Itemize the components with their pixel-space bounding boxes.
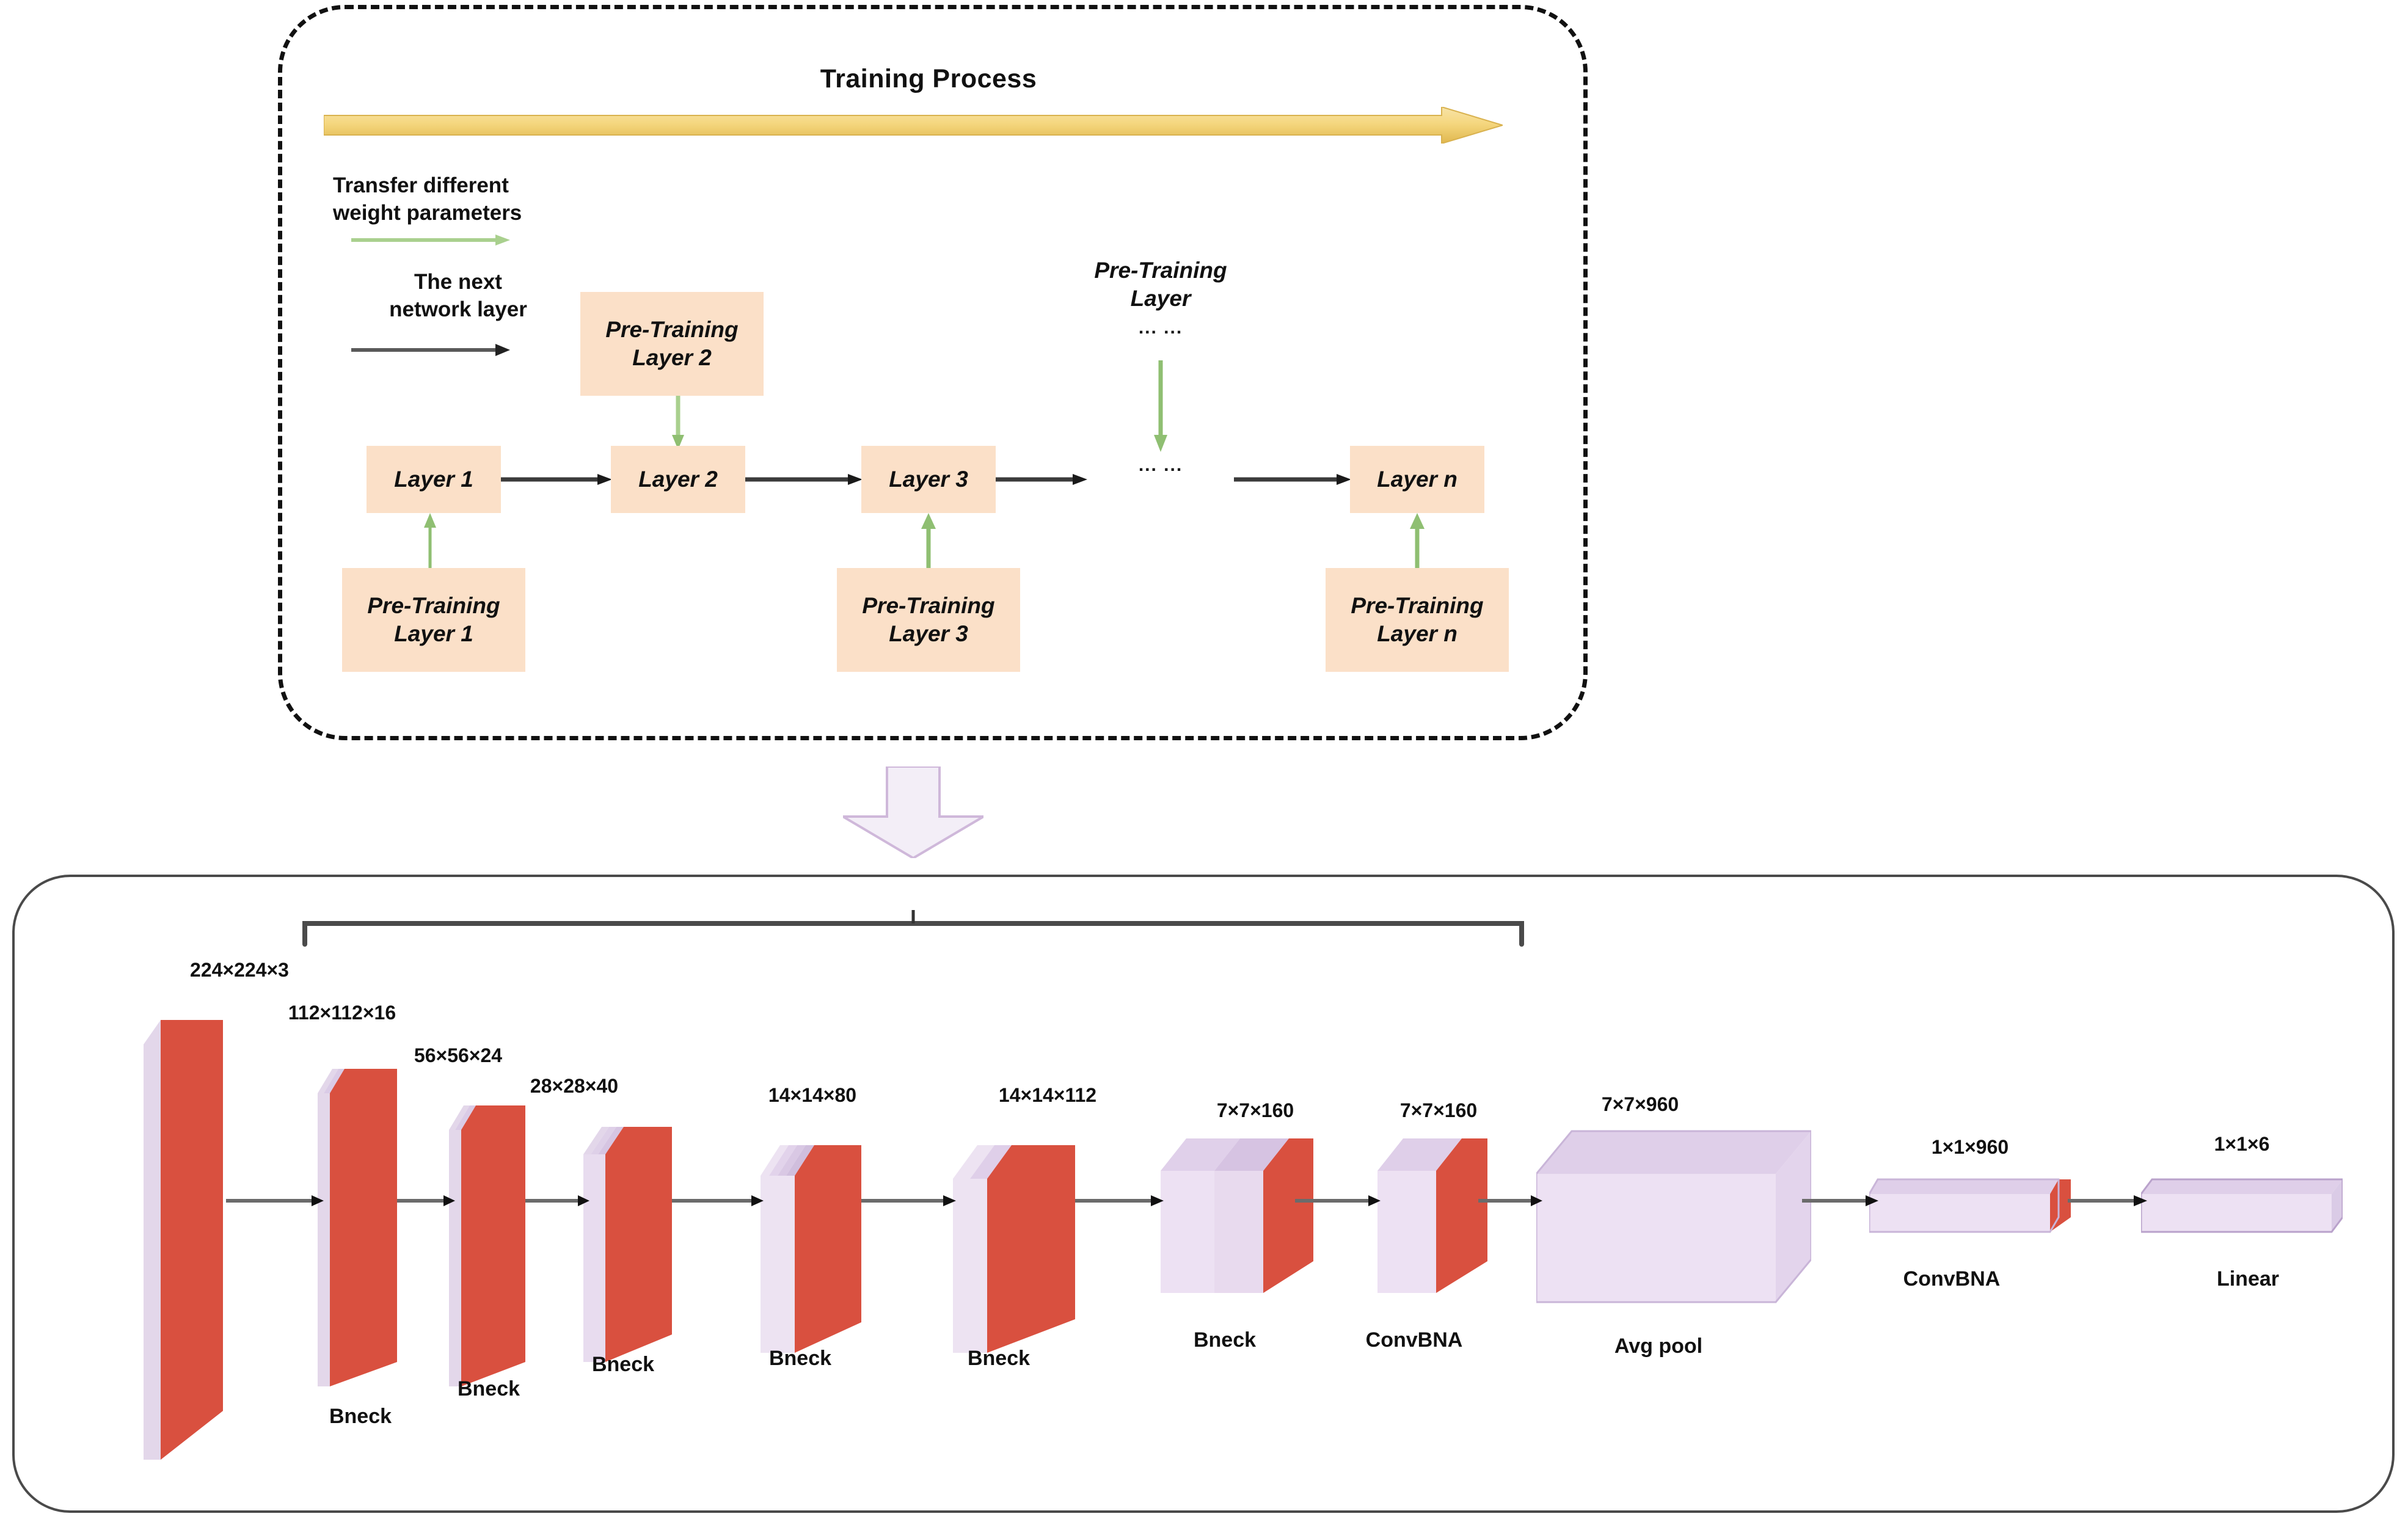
layer-row-ellipsis: ... ... [1087,455,1234,476]
block-bneck-4 [761,1127,861,1371]
architecture-brace [302,910,1524,947]
connector-layer2-layer3 [745,472,863,487]
block-label-avgpool: Avg pool [1585,1334,1732,1358]
block-bneck-1 [318,1057,397,1399]
legend-next-line1: The next [367,269,550,296]
legend-black-arrow-icon [351,342,510,358]
block-avgpool [1536,1130,1811,1319]
pre-training-3-line1: Pre-Training [862,592,994,620]
dim-label-bneck-2: 56×56×24 [367,1044,550,1067]
legend-next-line2: network layer [367,296,550,324]
dim-label-bneck-5: 14×14×112 [950,1084,1145,1107]
block-label-bneck-1: Bneck [318,1405,403,1429]
dim-label-bneck-1: 112×112×16 [244,1002,440,1024]
block-convbna-1 [1377,1137,1487,1314]
page-title: Training Process [739,64,1118,94]
block-label-bneck-3: Bneck [580,1353,666,1377]
layer-box-1[interactable]: Layer 1 [367,446,501,513]
pre-training-floating-line2: Layer [1051,285,1271,313]
legend-green-arrow-icon [351,232,510,248]
training-process-arrow [324,107,1503,144]
connector-ellipsis-layern [1234,472,1351,487]
connector-avgpool-convbna2 [1802,1194,1878,1207]
layer-box-3[interactable]: Layer 3 [861,446,996,513]
block-label-convbna-2: ConvBNA [1878,1267,2025,1291]
pre-training-floating-line1: Pre-Training [1051,257,1271,285]
block-bneck-2 [449,1093,525,1399]
green-arrow-pre1-to-layer1 [421,513,439,572]
pre-training-box-1[interactable]: Pre-Training Layer 1 [342,568,525,672]
block-bneck-5 [953,1127,1075,1371]
connector-layer1-layer2 [501,472,612,487]
legend-transfer-line2: weight parameters [333,200,589,227]
dim-label-avgpool: 7×7×960 [1555,1093,1726,1116]
block-input [144,983,223,1460]
pre-training-1-line1: Pre-Training [367,592,500,620]
block-bneck-3 [583,1112,672,1380]
dim-label-bneck-6: 7×7×160 [1170,1099,1341,1122]
block-bneck-6 [1161,1137,1313,1314]
green-arrow-pre3-to-layer3 [920,513,937,572]
pre-training-2-line1: Pre-Training [605,316,738,344]
green-arrow-prefloating-to-ellipsis [1152,360,1169,452]
pre-training-box-3[interactable]: Pre-Training Layer 3 [837,568,1020,672]
pre-training-floating-ellipsis: ... ... [1087,318,1234,338]
connector-layer3-ellipsis [996,472,1087,487]
dim-label-bneck-3: 28×28×40 [483,1075,666,1098]
block-label-bneck-5: Bneck [956,1347,1042,1371]
transition-down-arrow-icon [843,766,983,858]
block-linear [2141,1176,2343,1243]
layer-box-2[interactable]: Layer 2 [611,446,745,513]
pre-training-n-line1: Pre-Training [1351,592,1483,620]
pre-training-box-n[interactable]: Pre-Training Layer n [1326,568,1509,672]
dim-label-input: 224×224×3 [148,959,331,981]
layer-box-n[interactable]: Layer n [1350,446,1484,513]
connector-bneck6-convbna1 [1295,1194,1381,1207]
green-arrow-pre2-to-layer2 [669,396,687,450]
dim-label-bneck-4: 14×14×80 [721,1084,904,1107]
block-label-bneck-6: Bneck [1176,1328,1274,1352]
connector-bneck4-bneck5 [861,1194,956,1207]
legend-transfer-line1: Transfer different [333,172,589,200]
connector-bneck5-bneck6 [1075,1194,1164,1207]
connector-bneck3-bneck4 [672,1194,764,1207]
dim-label-linear: 1×1×6 [2156,1133,2327,1156]
block-convbna-2 [1869,1176,2071,1243]
block-label-bneck-2: Bneck [446,1377,531,1401]
block-label-linear: Linear [2175,1267,2321,1291]
pre-training-1-line2: Layer 1 [367,620,500,648]
pre-training-2-line2: Layer 2 [605,344,738,372]
pre-training-floating-label: Pre-Training Layer [1051,257,1271,313]
connector-convbna1-avgpool [1478,1194,1542,1207]
connector-bneck1-bneck2 [397,1194,455,1207]
dim-label-convbna-1: 7×7×160 [1353,1099,1524,1122]
legend-next-layer-label: The next network layer [367,269,550,324]
legend-transfer-label: Transfer different weight parameters [333,172,589,227]
green-arrow-pren-to-layern [1409,513,1426,572]
diagram-canvas: Training Process Transfer different weig… [0,0,2408,1522]
connector-input-bneck1 [226,1194,324,1207]
connector-convbna2-linear [2068,1194,2147,1207]
block-label-bneck-4: Bneck [757,1347,843,1371]
pre-training-box-2[interactable]: Pre-Training Layer 2 [580,292,764,396]
block-label-convbna-1: ConvBNA [1347,1328,1481,1352]
pre-training-3-line2: Layer 3 [862,620,994,648]
dim-label-convbna-2: 1×1×960 [1884,1136,2056,1159]
pre-training-n-line2: Layer n [1351,620,1483,648]
connector-bneck2-bneck3 [525,1194,589,1207]
